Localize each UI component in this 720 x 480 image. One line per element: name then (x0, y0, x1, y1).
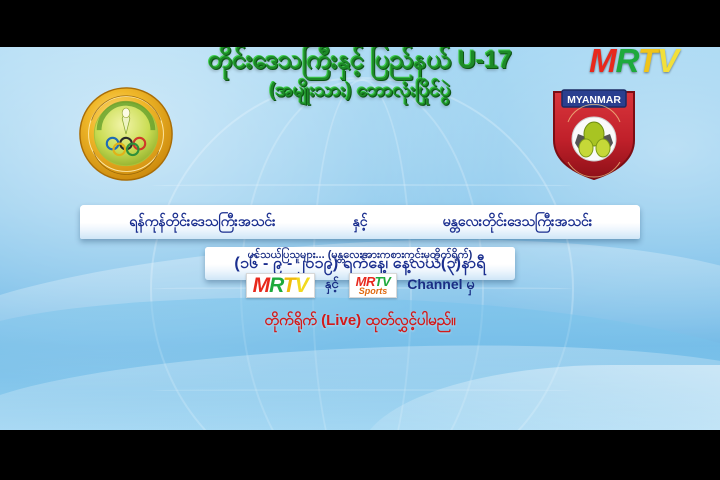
mrtv-logo-letter-v: V (295, 274, 308, 297)
mrtv-letter-r: R (616, 42, 638, 79)
teams-bar: ရန်ကုန်တိုင်းဒေသကြီးအသင်း နှင့် မန္တလေးတ… (80, 205, 640, 239)
channel-row: MRTV နှင့် MRTV Sports Channel မှ (0, 273, 720, 298)
mrtv-logo-letter-r: R (269, 274, 283, 297)
away-team-name: မန္တလေးတိုင်းဒေသကြီးအသင်း (400, 212, 635, 233)
letterbox-top (0, 0, 720, 47)
mrtv-logo-letter-t: T (283, 274, 295, 297)
venue-line: ပင်သယ်ပြသူများ... (မန္တလေးအားကစားကွင်းမှ… (0, 248, 720, 264)
wave-band-3 (0, 332, 720, 430)
mrtv-sports-logo: MRTV Sports (349, 273, 398, 298)
mrtv-logo: MRTV (246, 273, 315, 298)
broadcast-promo-screen: MRTV (0, 0, 720, 480)
channel-conjunction: နှင့် (325, 276, 339, 295)
home-team-name: ရန်ကုန်တိုင်းဒေသကြီးအသင်း (85, 212, 320, 233)
channel-label: Channel မှ (407, 275, 474, 296)
wave-band-4 (360, 365, 720, 430)
live-broadcast-line: တိုက်ရိုက် (Live) ထုတ်လွှင့်ပါမည်။ (0, 311, 720, 333)
mrtv-letter-m: M (589, 42, 616, 79)
letterbox-bottom (0, 430, 720, 480)
mrtv-letter-t: T (638, 42, 657, 79)
mrtv-channel-bug: MRTV (589, 44, 678, 77)
broadcast-info: ပင်သယ်ပြသူများ... (မန္တလေးအားကစားကွင်းမှ… (0, 248, 720, 333)
versus-label: နှင့် (320, 212, 400, 233)
sports-logo-subtitle: Sports (356, 287, 391, 296)
headline-category: (အမျိုးသား) ဘောလုံးပြိုင်ပွဲ (0, 79, 720, 102)
mrtv-letter-v: V (657, 42, 678, 79)
mrtv-logo-letter-m: M (253, 274, 270, 297)
